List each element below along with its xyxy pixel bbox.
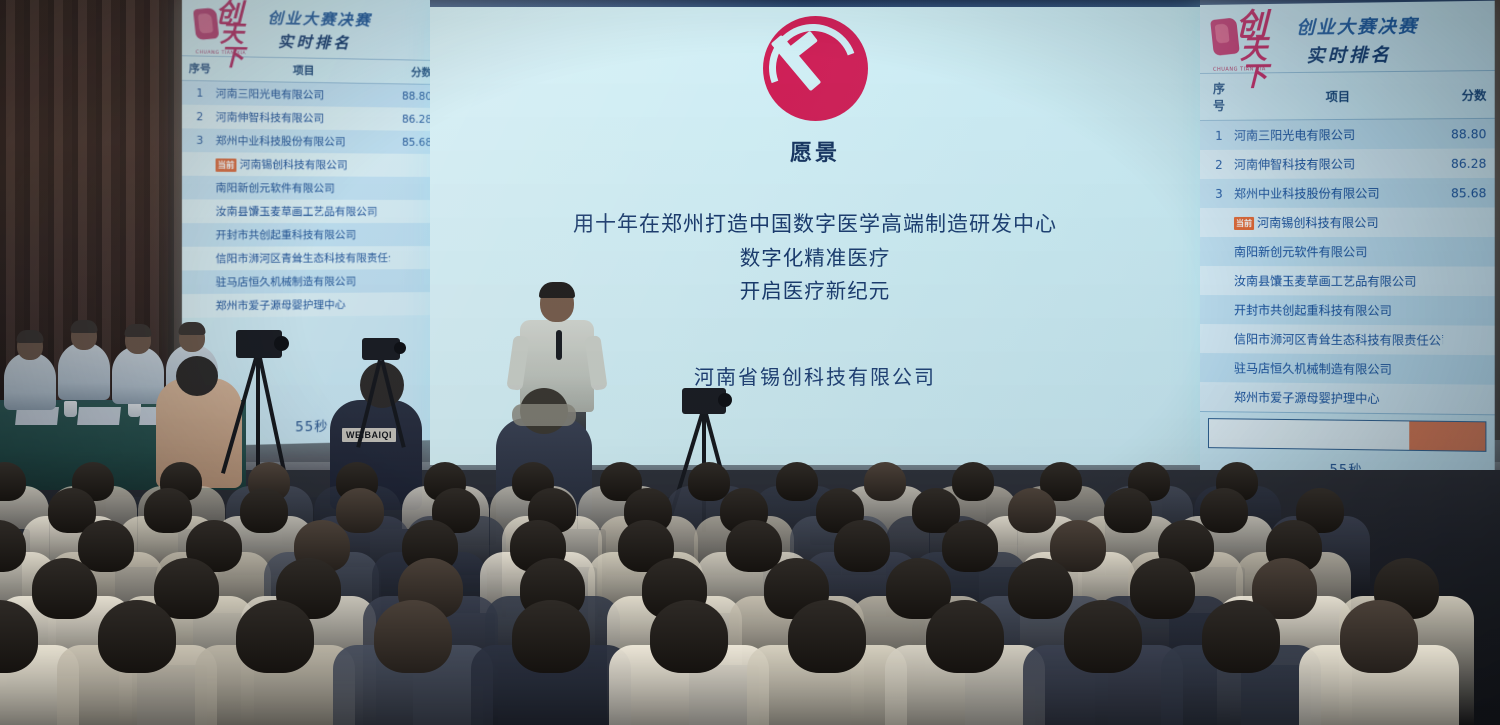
ranking-row: 当前河南锡创科技有限公司 [182, 152, 438, 177]
chuangtianxia-logo-icon: 创 天下 CHUANG TIAN XIA [192, 0, 259, 55]
row-score: 88.80 [1443, 127, 1486, 142]
judge-cup [64, 401, 77, 417]
row-score: 85.68 [390, 136, 432, 148]
ranking-row: 开封市共创起重科技有限公司 [1200, 295, 1495, 326]
audience-member-head [688, 462, 730, 501]
ranking-title-line2: 实时排名 [278, 31, 372, 54]
attendee-standing-head [176, 356, 218, 396]
row-project-name: 郑州中业科技股份有限公司 [1230, 184, 1443, 202]
row-score: 85.68 [1443, 186, 1486, 200]
judge-paper [77, 407, 121, 425]
ranking-row: 3郑州中业科技股份有限公司85.68 [182, 128, 438, 154]
row-project-name: 汝南县馕玉麦草画工艺品有限公司 [211, 204, 390, 219]
chuangtianxia-logo-icon-right: 创 天下 CHUANG TIAN XIA [1210, 10, 1288, 71]
current-speaker-badge: 当前 [1234, 217, 1254, 230]
audience-member-head [98, 600, 176, 673]
row-project-name: 当前河南锡创科技有限公司 [1230, 214, 1443, 231]
ranking-row: 驻马店恒久机械制造有限公司 [182, 269, 438, 294]
row-project-name: 当前河南锡创科技有限公司 [211, 156, 390, 172]
row-project-name: 河南三阳光电有限公司 [1230, 125, 1443, 143]
row-rank-number: 2 [1208, 157, 1230, 171]
ranking-brand-header-right: 创 天下 CHUANG TIAN XIA 创业大赛决赛 实时排名 [1200, 1, 1495, 73]
row-project-name: 开封市共创起重科技有限公司 [211, 227, 390, 243]
judge-person [112, 346, 164, 404]
presenter-hair [539, 282, 575, 298]
row-project-name: 河南三阳光电有限公司 [211, 86, 390, 104]
slide-line-2: 数字化精准医疗 [573, 242, 1057, 276]
audience-member-head [1130, 558, 1195, 619]
current-speaker-badge: 当前 [216, 158, 237, 171]
audience-member-head [1200, 488, 1248, 533]
speaking-time-progress-bar [1208, 418, 1486, 452]
logo-char-tianxia-right: 天下 [1240, 36, 1288, 91]
audience-member-head [650, 600, 728, 673]
audience-member-head [1202, 600, 1280, 673]
ranking-rows-right: 1河南三阳光电有限公司88.802河南伸智科技有限公司86.283郑州中业科技股… [1200, 119, 1495, 414]
logo-subtitle: CHUANG TIAN XIA [196, 50, 246, 56]
ranking-row: 1河南三阳光电有限公司88.80 [1200, 119, 1495, 150]
ranking-row: 3郑州中业科技股份有限公司85.68 [1200, 178, 1495, 208]
ranking-row: 汝南县馕玉麦草画工艺品有限公司 [182, 199, 438, 223]
attendee-cap [512, 404, 576, 426]
ranking-rows-left: 1河南三阳光电有限公司88.802河南伸智科技有限公司86.283郑州中业科技股… [182, 81, 438, 318]
slide-company-name: 河南省锡创科技有限公司 [694, 361, 936, 390]
audience-member-head [1008, 558, 1073, 619]
ranking-table-left: 序号 项目 分数 1河南三阳光电有限公司88.802河南伸智科技有限公司86.2… [182, 55, 438, 318]
row-rank-number: 3 [188, 134, 211, 147]
column-header-no-right: 序号 [1208, 80, 1230, 114]
ranking-row: 驻马店恒久机械制造有限公司 [1200, 353, 1495, 385]
ranking-row: 郑州市爱子源母婴护理中心 [182, 292, 438, 318]
ranking-screen-right: 创 天下 CHUANG TIAN XIA 创业大赛决赛 实时排名 序号 项目 分… [1200, 0, 1495, 474]
audience-member-head [1104, 488, 1152, 533]
slide-line-1: 用十年在郑州打造中国数字医学高端制造研发中心 [573, 207, 1057, 242]
audience-member-head [864, 462, 906, 501]
row-score: 88.80 [390, 90, 432, 103]
conference-hall-scene: 创 天下 CHUANG TIAN XIA 创业大赛决赛 实时排名 序号 项目 分… [0, 0, 1500, 725]
row-project-name: 郑州市爱子源母婴护理中心 [1230, 388, 1443, 407]
column-header-score: 分数 [390, 64, 432, 80]
row-rank-number: 3 [1208, 186, 1230, 200]
audience-member-head [236, 600, 314, 673]
slide-heading: 愿景 [790, 135, 840, 167]
row-project-name: 汝南县馕玉麦草画工艺品有限公司 [1230, 272, 1443, 290]
progress-remaining [1409, 421, 1485, 450]
row-project-name: 河南伸智科技有限公司 [211, 109, 390, 126]
ranking-row: 1河南三阳光电有限公司88.80 [182, 81, 438, 108]
row-project-name: 南阳新创元软件有限公司 [1230, 243, 1443, 260]
presenter-microphone [556, 330, 562, 360]
row-score: 86.28 [390, 113, 432, 126]
row-project-name: 郑州市爱子源母婴护理中心 [211, 296, 390, 313]
judge-person [58, 342, 110, 400]
ranking-row: 2河南伸智科技有限公司86.28 [182, 105, 438, 131]
audience-member-head [336, 488, 384, 533]
ranking-brand-header-left: 创 天下 CHUANG TIAN XIA 创业大赛决赛 实时排名 [182, 0, 438, 60]
audience-member-head [834, 520, 890, 572]
row-rank-number: 2 [188, 110, 211, 123]
audience-member-head [952, 462, 994, 501]
ranking-row: 汝南县馕玉麦草画工艺品有限公司 [1200, 266, 1495, 296]
row-project-name: 驻马店恒久机械制造有限公司 [211, 273, 390, 290]
row-project-name: 开封市共创起重科技有限公司 [1230, 301, 1443, 319]
ranking-title-line2-right: 实时排名 [1306, 40, 1418, 68]
row-rank-number: 1 [188, 87, 211, 100]
audience-member-head [726, 520, 782, 572]
row-project-name: 驻马店恒久机械制造有限公司 [1230, 359, 1443, 378]
audience-member-head [942, 520, 998, 572]
audience-member-head [1008, 488, 1056, 533]
camera-tripod-mid [358, 338, 418, 458]
slide-body: 用十年在郑州打造中国数字医学高端制造研发中心 数字化精准医疗 开启医疗新纪元 [573, 207, 1057, 309]
ranking-row: 郑州市爱子源母婴护理中心 [1200, 382, 1495, 414]
ranking-row: 开封市共创起重科技有限公司 [182, 223, 438, 247]
audience-member-head [512, 600, 590, 673]
ranking-row: 南阳新创元软件有限公司 [1200, 237, 1495, 267]
ranking-row: 信阳市浉河区青耸生态科技有限责任公司 [1200, 324, 1495, 355]
slide-line-3: 开启医疗新纪元 [573, 275, 1057, 309]
camera-tripod-left [228, 330, 298, 480]
ranking-table-right: 序号 项目 分数 1河南三阳光电有限公司88.802河南伸智科技有限公司86.2… [1200, 70, 1495, 414]
column-header-no: 序号 [188, 60, 211, 76]
audience-member-head [1064, 600, 1142, 673]
audience-member-head [374, 600, 452, 673]
row-project-name: 信阳市浉河区青耸生态科技有限责任公司 [1230, 330, 1443, 349]
row-project-name: 南阳新创元软件有限公司 [211, 180, 390, 196]
audience-member-head [926, 600, 1004, 673]
audience-member-head [788, 600, 866, 673]
row-project-name: 郑州中业科技股份有限公司 [211, 133, 390, 150]
ranking-title-line1: 创业大赛决赛 [268, 7, 372, 31]
audience-member-head [776, 462, 818, 501]
judge-person [4, 352, 56, 410]
audience-member-head [78, 520, 134, 572]
row-project-name: 信阳市浉河区青耸生态科技有限责任公司 [211, 250, 390, 266]
ranking-title-line1-right: 创业大赛决赛 [1296, 12, 1418, 40]
audience-member-head [32, 558, 97, 619]
row-project-name: 河南伸智科技有限公司 [1230, 155, 1443, 173]
logo-char-tianxia: 天下 [220, 22, 260, 70]
ranking-row: 南阳新创元软件有限公司 [182, 176, 438, 200]
ranking-row: 2河南伸智科技有限公司86.28 [1200, 148, 1495, 179]
audience-member-head [1340, 600, 1418, 673]
ranking-row: 当前河南锡创科技有限公司 [1200, 207, 1495, 237]
column-header-score-right: 分数 [1443, 86, 1486, 104]
progress-elapsed [1209, 419, 1409, 450]
company-circle-logo-icon [763, 16, 868, 121]
row-score: 86.28 [1443, 156, 1486, 170]
audience-member-head [144, 488, 192, 533]
row-rank-number: 1 [1208, 128, 1230, 142]
ranking-row: 信阳市浉河区青耸生态科技有限责任公司 [182, 246, 438, 270]
logo-subtitle-right: CHUANG TIAN XIA [1213, 66, 1266, 73]
audience-member-head [240, 488, 288, 533]
